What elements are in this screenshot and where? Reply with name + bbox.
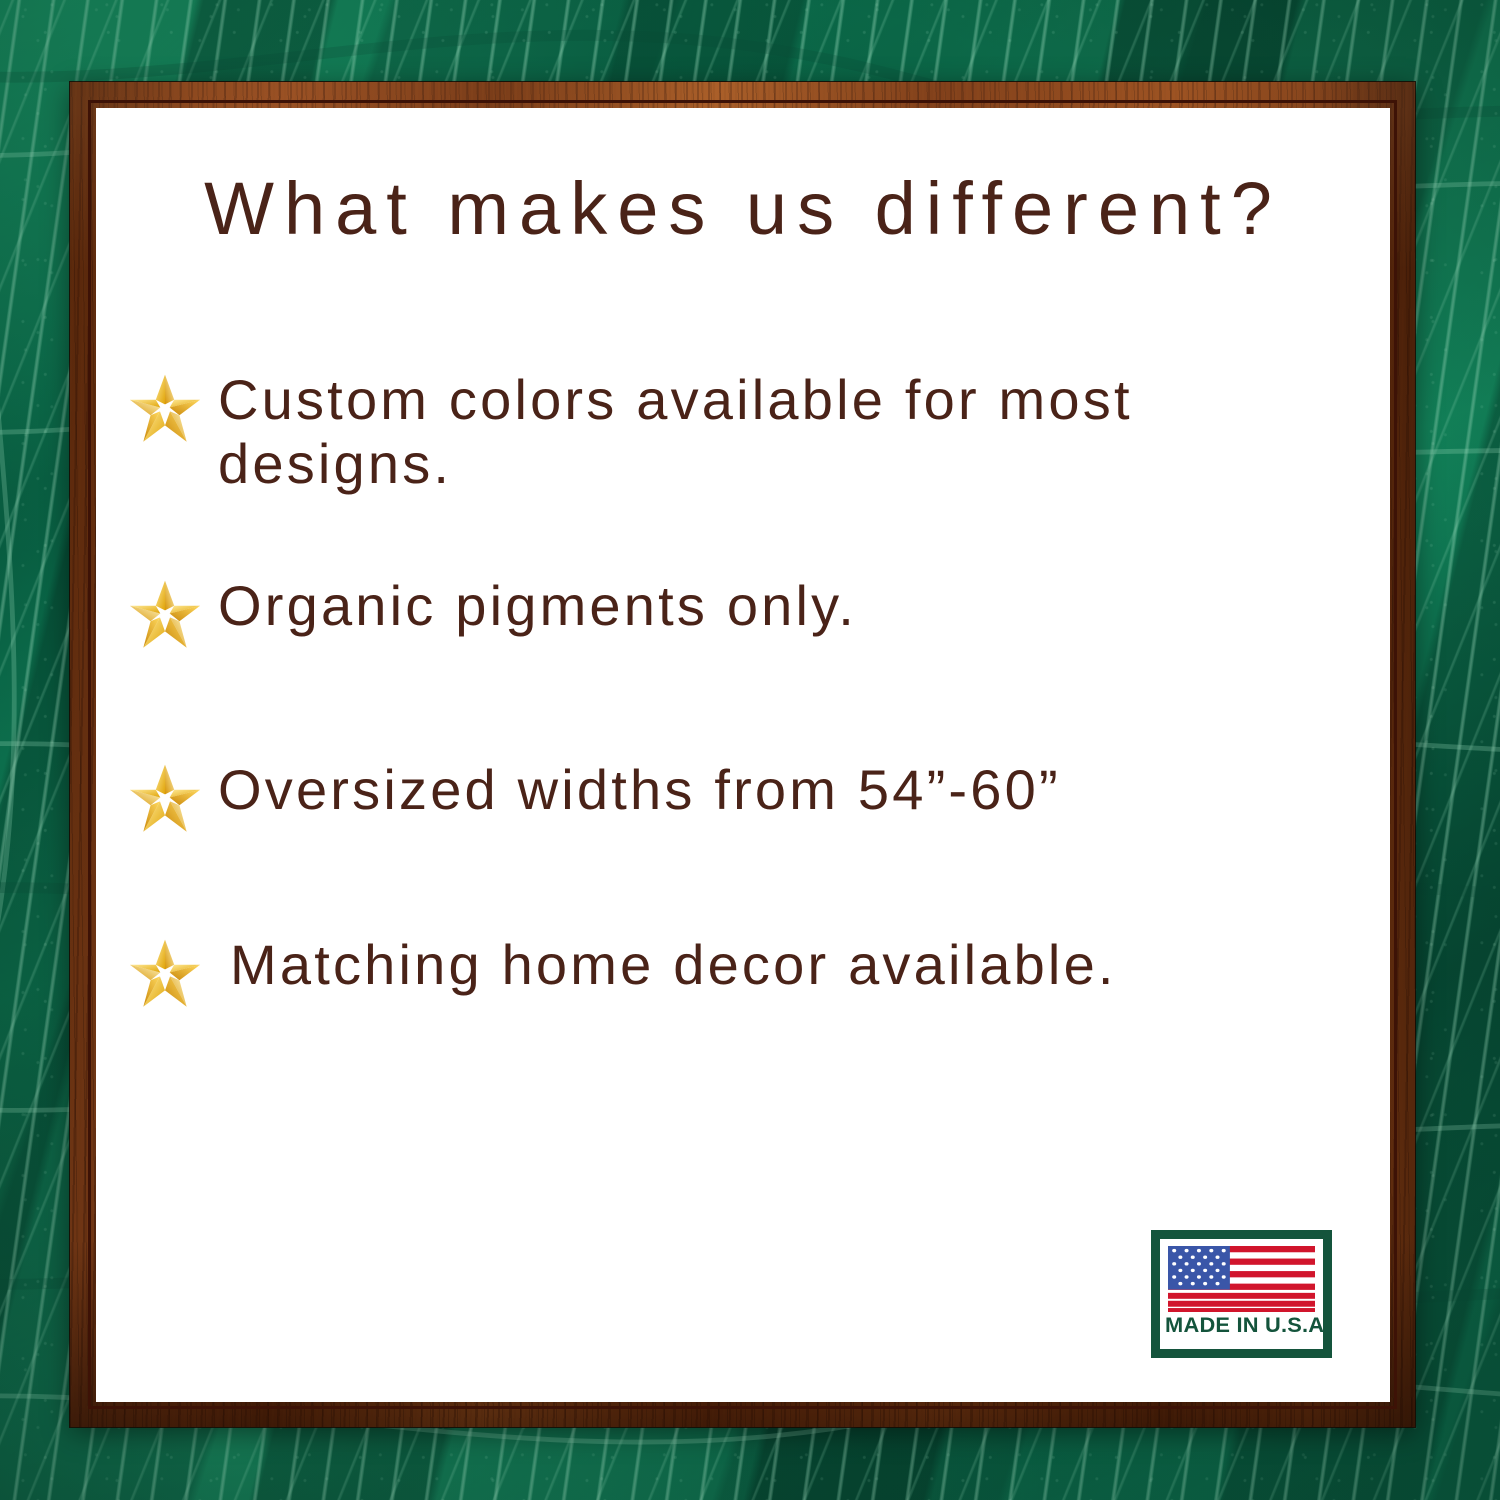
gold-star-icon: [126, 370, 204, 448]
gold-star-icon: [126, 576, 204, 654]
list-item-label: Organic pigments only.: [218, 572, 1368, 638]
us-flag-icon: [1168, 1246, 1315, 1312]
list-item-label: Matching home decor available.: [218, 931, 1380, 997]
gold-star-icon: [126, 935, 204, 1013]
made-in-usa-label: MADE IN U.S.A.: [1165, 1314, 1318, 1338]
gold-star-icon: [126, 760, 204, 838]
list-item: Matching home decor available.: [126, 931, 1380, 1013]
list-item: Oversized widths from 54”-60”: [126, 756, 1368, 838]
list-item-label: Oversized widths from 54”-60”: [218, 756, 1368, 822]
list-item-label: Custom colors available for most designs…: [218, 366, 1368, 496]
list-item: Custom colors available for most designs…: [126, 366, 1368, 496]
list-item: Organic pigments only.: [126, 572, 1368, 654]
page-title: What makes us different?: [96, 166, 1390, 251]
white-content-card: What makes us different?: [96, 108, 1390, 1402]
made-in-usa-badge: MADE IN U.S.A.: [1151, 1230, 1332, 1358]
